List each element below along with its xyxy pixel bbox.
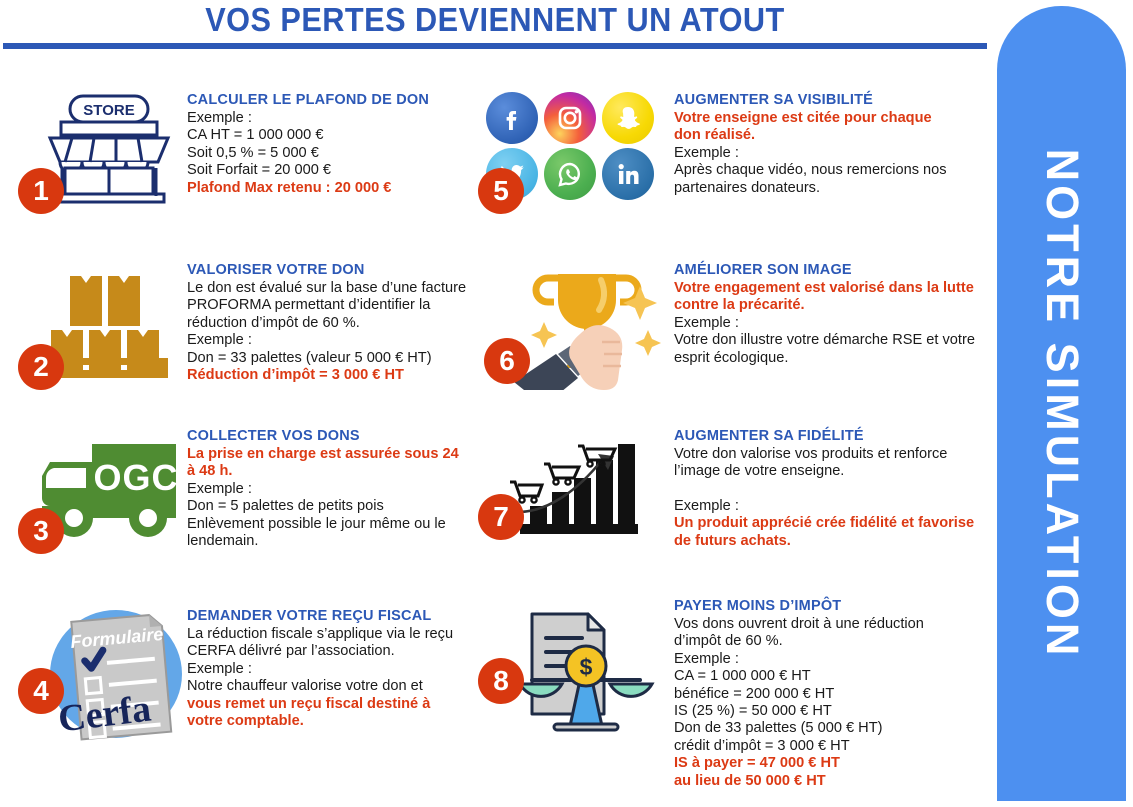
step-line: Exemple : (674, 651, 999, 668)
linkedin-icon (602, 148, 654, 200)
step-number-badge: 2 (18, 344, 64, 390)
step-text-2: VALORISER VOTRE DON Le don est évalué su… (187, 262, 497, 384)
step-line: Votre don valorise vos produits et renfo… (674, 446, 999, 463)
step-line-highlight: La prise en charge est assurée sous 24 (187, 446, 487, 463)
svg-text:OGC: OGC (93, 457, 178, 498)
step-line: Exemple : (674, 145, 994, 162)
svg-text:STORE: STORE (83, 102, 134, 119)
step-line-highlight: Réduction d’impôt = 3 000 € HT (187, 367, 497, 384)
step-line: Votre don illustre votre démarche RSE et… (674, 332, 999, 349)
step-text-6: AMÉLIORER SON IMAGE Votre engagement est… (674, 262, 999, 367)
page-title: VOS PERTES DEVIENNENT UN ATOUT (35, 0, 956, 40)
step-line: PROFORMA permettant d’identifier la (187, 297, 497, 314)
step-line: CERFA délivré par l’association. (187, 643, 487, 660)
step-number-badge: 1 (18, 168, 64, 214)
step-line: bénéfice = 200 000 € HT (674, 686, 999, 703)
steps-container: STORE 1 (0, 60, 990, 807)
step-block-5: 5 AUGMENTER SA VISIBILITÉ Votre enseigne… (478, 80, 990, 250)
step-line-highlight: Votre engagement est valorisé dans la lu… (674, 280, 999, 297)
step-line: réduction d’impôt de 60 %. (187, 315, 497, 332)
step-title: DEMANDER VOTRE REÇU FISCAL (187, 608, 487, 625)
step-line-highlight: Plafond Max retenu : 20 000 € (187, 180, 487, 197)
scales-document-icon: $ (502, 604, 672, 744)
step-line: Enlèvement possible le jour même ou le (187, 516, 487, 533)
step-block-7: 7 AUGMENTER SA FIDÉLITÉ Votre don valori… (478, 422, 990, 602)
step-line: CA = 1 000 000 € HT (674, 668, 999, 685)
step-title: CALCULER LE PLAFOND DE DON (187, 92, 487, 109)
step-line: Vos dons ouvrent droit à une réduction (674, 616, 999, 633)
step-title: PAYER MOINS D’IMPÔT (674, 598, 999, 615)
step-line: Don de 33 palettes (5 000 € HT) (674, 720, 999, 737)
step-line: Notre chauffeur valorise votre don et (187, 678, 487, 695)
step-number-badge: 6 (484, 338, 530, 384)
step-line-highlight: à 48 h. (187, 463, 487, 480)
whatsapp-icon (544, 148, 596, 200)
step-line: Après chaque vidéo, nous remercions nos (674, 162, 994, 179)
step-line-highlight: don réalisé. (674, 127, 994, 144)
step-line-highlight: vous remet un reçu fiscal destiné à (187, 696, 487, 713)
step-title: COLLECTER VOS DONS (187, 428, 487, 445)
step-line: IS (25 %) = 50 000 € HT (674, 703, 999, 720)
step-line-highlight: Votre enseigne est citée pour chaque (674, 110, 994, 127)
step-text-1: CALCULER LE PLAFOND DE DON Exemple : CA … (187, 92, 487, 197)
infographic-page: VOS PERTES DEVIENNENT UN ATOUT NOTRE SIM… (0, 0, 1133, 807)
step-line: Don = 33 palettes (valeur 5 000 € HT) (187, 350, 497, 367)
sidebar-panel: NOTRE SIMULATION (997, 6, 1126, 801)
facebook-icon (486, 92, 538, 144)
step-number-badge: 5 (478, 168, 524, 214)
step-title: VALORISER VOTRE DON (187, 262, 497, 279)
step-line-spacer (674, 481, 999, 498)
step-line: lendemain. (187, 533, 487, 550)
step-line-highlight: Un produit apprécié crée fidélité et fav… (674, 515, 999, 532)
step-block-8: $ 8 PAYER MOINS D’IMPÔT Vos dons ouvrent… (478, 596, 990, 796)
step-text-5: AUGMENTER SA VISIBILITÉ Votre enseigne e… (674, 92, 994, 197)
step-text-3: COLLECTER VOS DONS La prise en charge es… (187, 428, 487, 550)
svg-text:$: $ (580, 654, 593, 680)
step-line: esprit écologique. (674, 350, 999, 367)
step-number-badge: 7 (478, 494, 524, 540)
step-line: Exemple : (674, 498, 999, 515)
snapchat-icon (602, 92, 654, 144)
step-title: AUGMENTER SA VISIBILITÉ (674, 92, 994, 109)
step-line: d’impôt de 60 %. (674, 633, 999, 650)
instagram-icon (544, 92, 596, 144)
step-line: CA HT = 1 000 000 € (187, 127, 487, 144)
step-block-1: STORE 1 (12, 80, 482, 250)
step-line: Exemple : (187, 332, 497, 349)
page-header: VOS PERTES DEVIENNENT UN ATOUT (0, 0, 990, 56)
step-block-2: 2 VALORISER VOTRE DON Le don est évalué … (12, 256, 482, 426)
step-block-6: 6 AMÉLIORER SON IMAGE Votre engagement e… (478, 256, 990, 426)
step-line-highlight: contre la précarité. (674, 297, 999, 314)
step-line: Soit Forfait = 20 000 € (187, 162, 487, 179)
step-block-4: Formulaire Cerfa 4 DEMANDER VOTRE REÇU (12, 596, 482, 796)
step-number-badge: 8 (478, 658, 524, 704)
step-line: Exemple : (674, 315, 999, 332)
step-number-badge: 4 (18, 668, 64, 714)
step-title: AUGMENTER SA FIDÉLITÉ (674, 428, 999, 445)
step-number-badge: 3 (18, 508, 64, 554)
step-line-highlight: IS à payer = 47 000 € HT (674, 755, 999, 772)
step-line: Soit 0,5 % = 5 000 € (187, 145, 487, 162)
step-line: Exemple : (187, 481, 487, 498)
step-text-8: PAYER MOINS D’IMPÔT Vos dons ouvrent dro… (674, 598, 999, 790)
step-line: Le don est évalué sur la base d’une fact… (187, 280, 497, 297)
step-line: Don = 5 palettes de petits pois (187, 498, 487, 515)
step-title: AMÉLIORER SON IMAGE (674, 262, 999, 279)
sidebar-title: NOTRE SIMULATION (1036, 148, 1088, 659)
step-text-7: AUGMENTER SA FIDÉLITÉ Votre don valorise… (674, 428, 999, 550)
step-line: l’image de votre enseigne. (674, 463, 999, 480)
step-line: Exemple : (187, 661, 487, 678)
header-divider (3, 43, 987, 49)
trophy-hand-icon (502, 260, 682, 390)
step-line: partenaires donateurs. (674, 180, 994, 197)
step-line: crédit d’impôt = 3 000 € HT (674, 738, 999, 755)
step-line-highlight: votre comptable. (187, 713, 487, 730)
growth-chart-cart-icon (502, 428, 672, 558)
step-line: La réduction fiscale s’applique via le r… (187, 626, 487, 643)
step-line-highlight: au lieu de 50 000 € HT (674, 773, 999, 790)
step-line-highlight: de futurs achats. (674, 533, 999, 550)
step-line: Exemple : (187, 110, 487, 127)
step-text-4: DEMANDER VOTRE REÇU FISCAL La réduction … (187, 608, 487, 730)
step-block-3: OGC 3 COLLECTER VOS DONS La prise en cha… (12, 422, 482, 602)
